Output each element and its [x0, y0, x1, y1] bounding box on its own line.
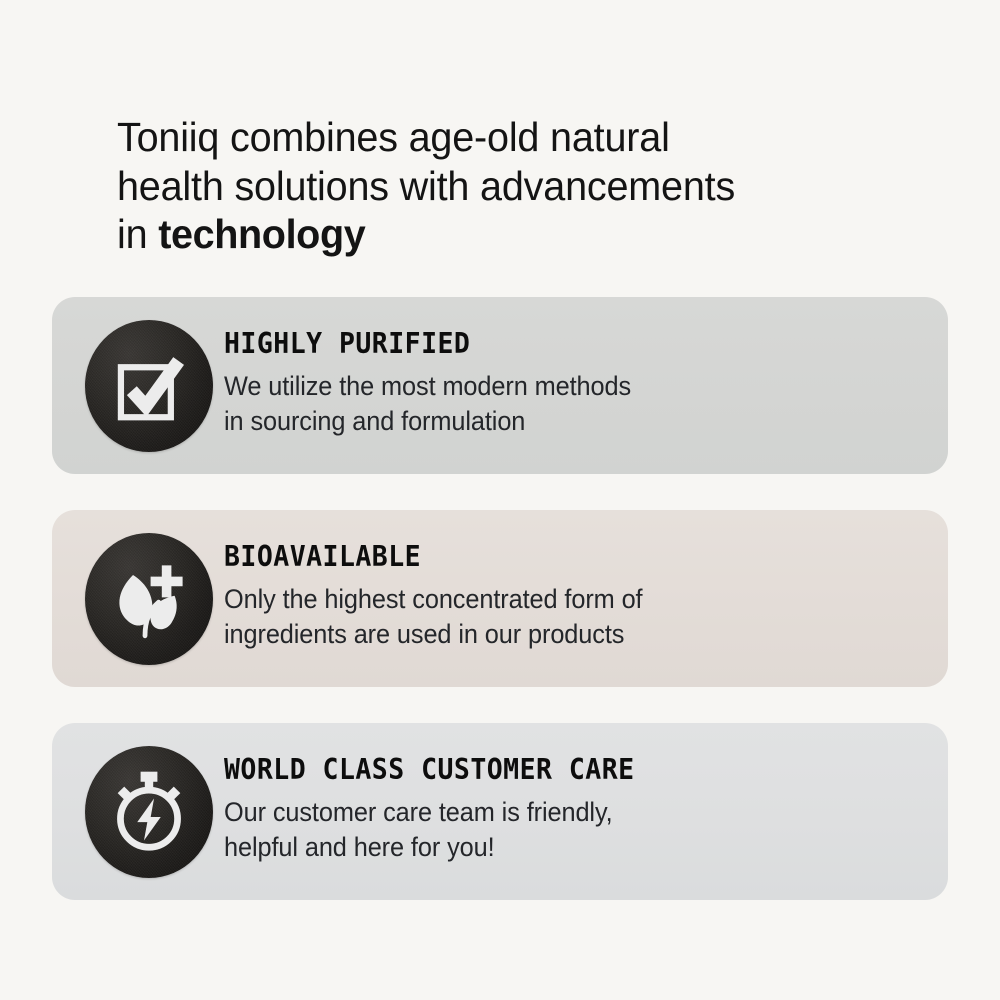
feature-card-list: HIGHLY PURIFIED We utilize the most mode…: [52, 297, 948, 900]
card-description: Only the highest concentrated form of in…: [224, 582, 893, 652]
card-title: HIGHLY PURIFIED: [224, 330, 875, 359]
card-description-line-2: helpful and here for you!: [224, 830, 893, 865]
card-title: WORLD CLASS CUSTOMER CARE: [224, 756, 875, 785]
page-headline: Toniiq combines age-old natural health s…: [117, 113, 850, 259]
stopwatch-bolt-icon: [85, 746, 213, 878]
feature-card-highly-purified[interactable]: HIGHLY PURIFIED We utilize the most mode…: [52, 297, 948, 474]
card-description-line-2: in sourcing and formulation: [224, 404, 893, 439]
card-title: BIOAVAILABLE: [224, 543, 875, 572]
headline-line-2: health solutions with advancements: [117, 163, 735, 209]
headline-emphasis: technology: [158, 211, 365, 257]
card-description-line-1: Only the highest concentrated form of: [224, 582, 893, 617]
headline-line-3-prefix: in: [117, 211, 158, 257]
page-root: Toniiq combines age-old natural health s…: [0, 0, 1000, 1000]
headline-line-1: Toniiq combines age-old natural: [117, 114, 670, 160]
card-description-line-1: We utilize the most modern methods: [224, 369, 893, 404]
leaves-plus-icon: [85, 533, 213, 665]
checkbox-check-icon: [85, 320, 213, 452]
icon-container: [83, 533, 215, 665]
card-description: We utilize the most modern methods in so…: [224, 369, 893, 439]
icon-container: [83, 746, 215, 878]
feature-card-world-class-customer-care[interactable]: WORLD CLASS CUSTOMER CARE Our customer c…: [52, 723, 948, 900]
card-text-block: HIGHLY PURIFIED We utilize the most mode…: [224, 330, 948, 441]
card-text-block: BIOAVAILABLE Only the highest concentrat…: [224, 543, 948, 654]
card-description: Our customer care team is friendly, help…: [224, 795, 893, 865]
feature-card-bioavailable[interactable]: BIOAVAILABLE Only the highest concentrat…: [52, 510, 948, 687]
card-description-line-1: Our customer care team is friendly,: [224, 795, 893, 830]
card-text-block: WORLD CLASS CUSTOMER CARE Our customer c…: [224, 756, 948, 867]
card-description-line-2: ingredients are used in our products: [224, 617, 893, 652]
icon-container: [83, 320, 215, 452]
